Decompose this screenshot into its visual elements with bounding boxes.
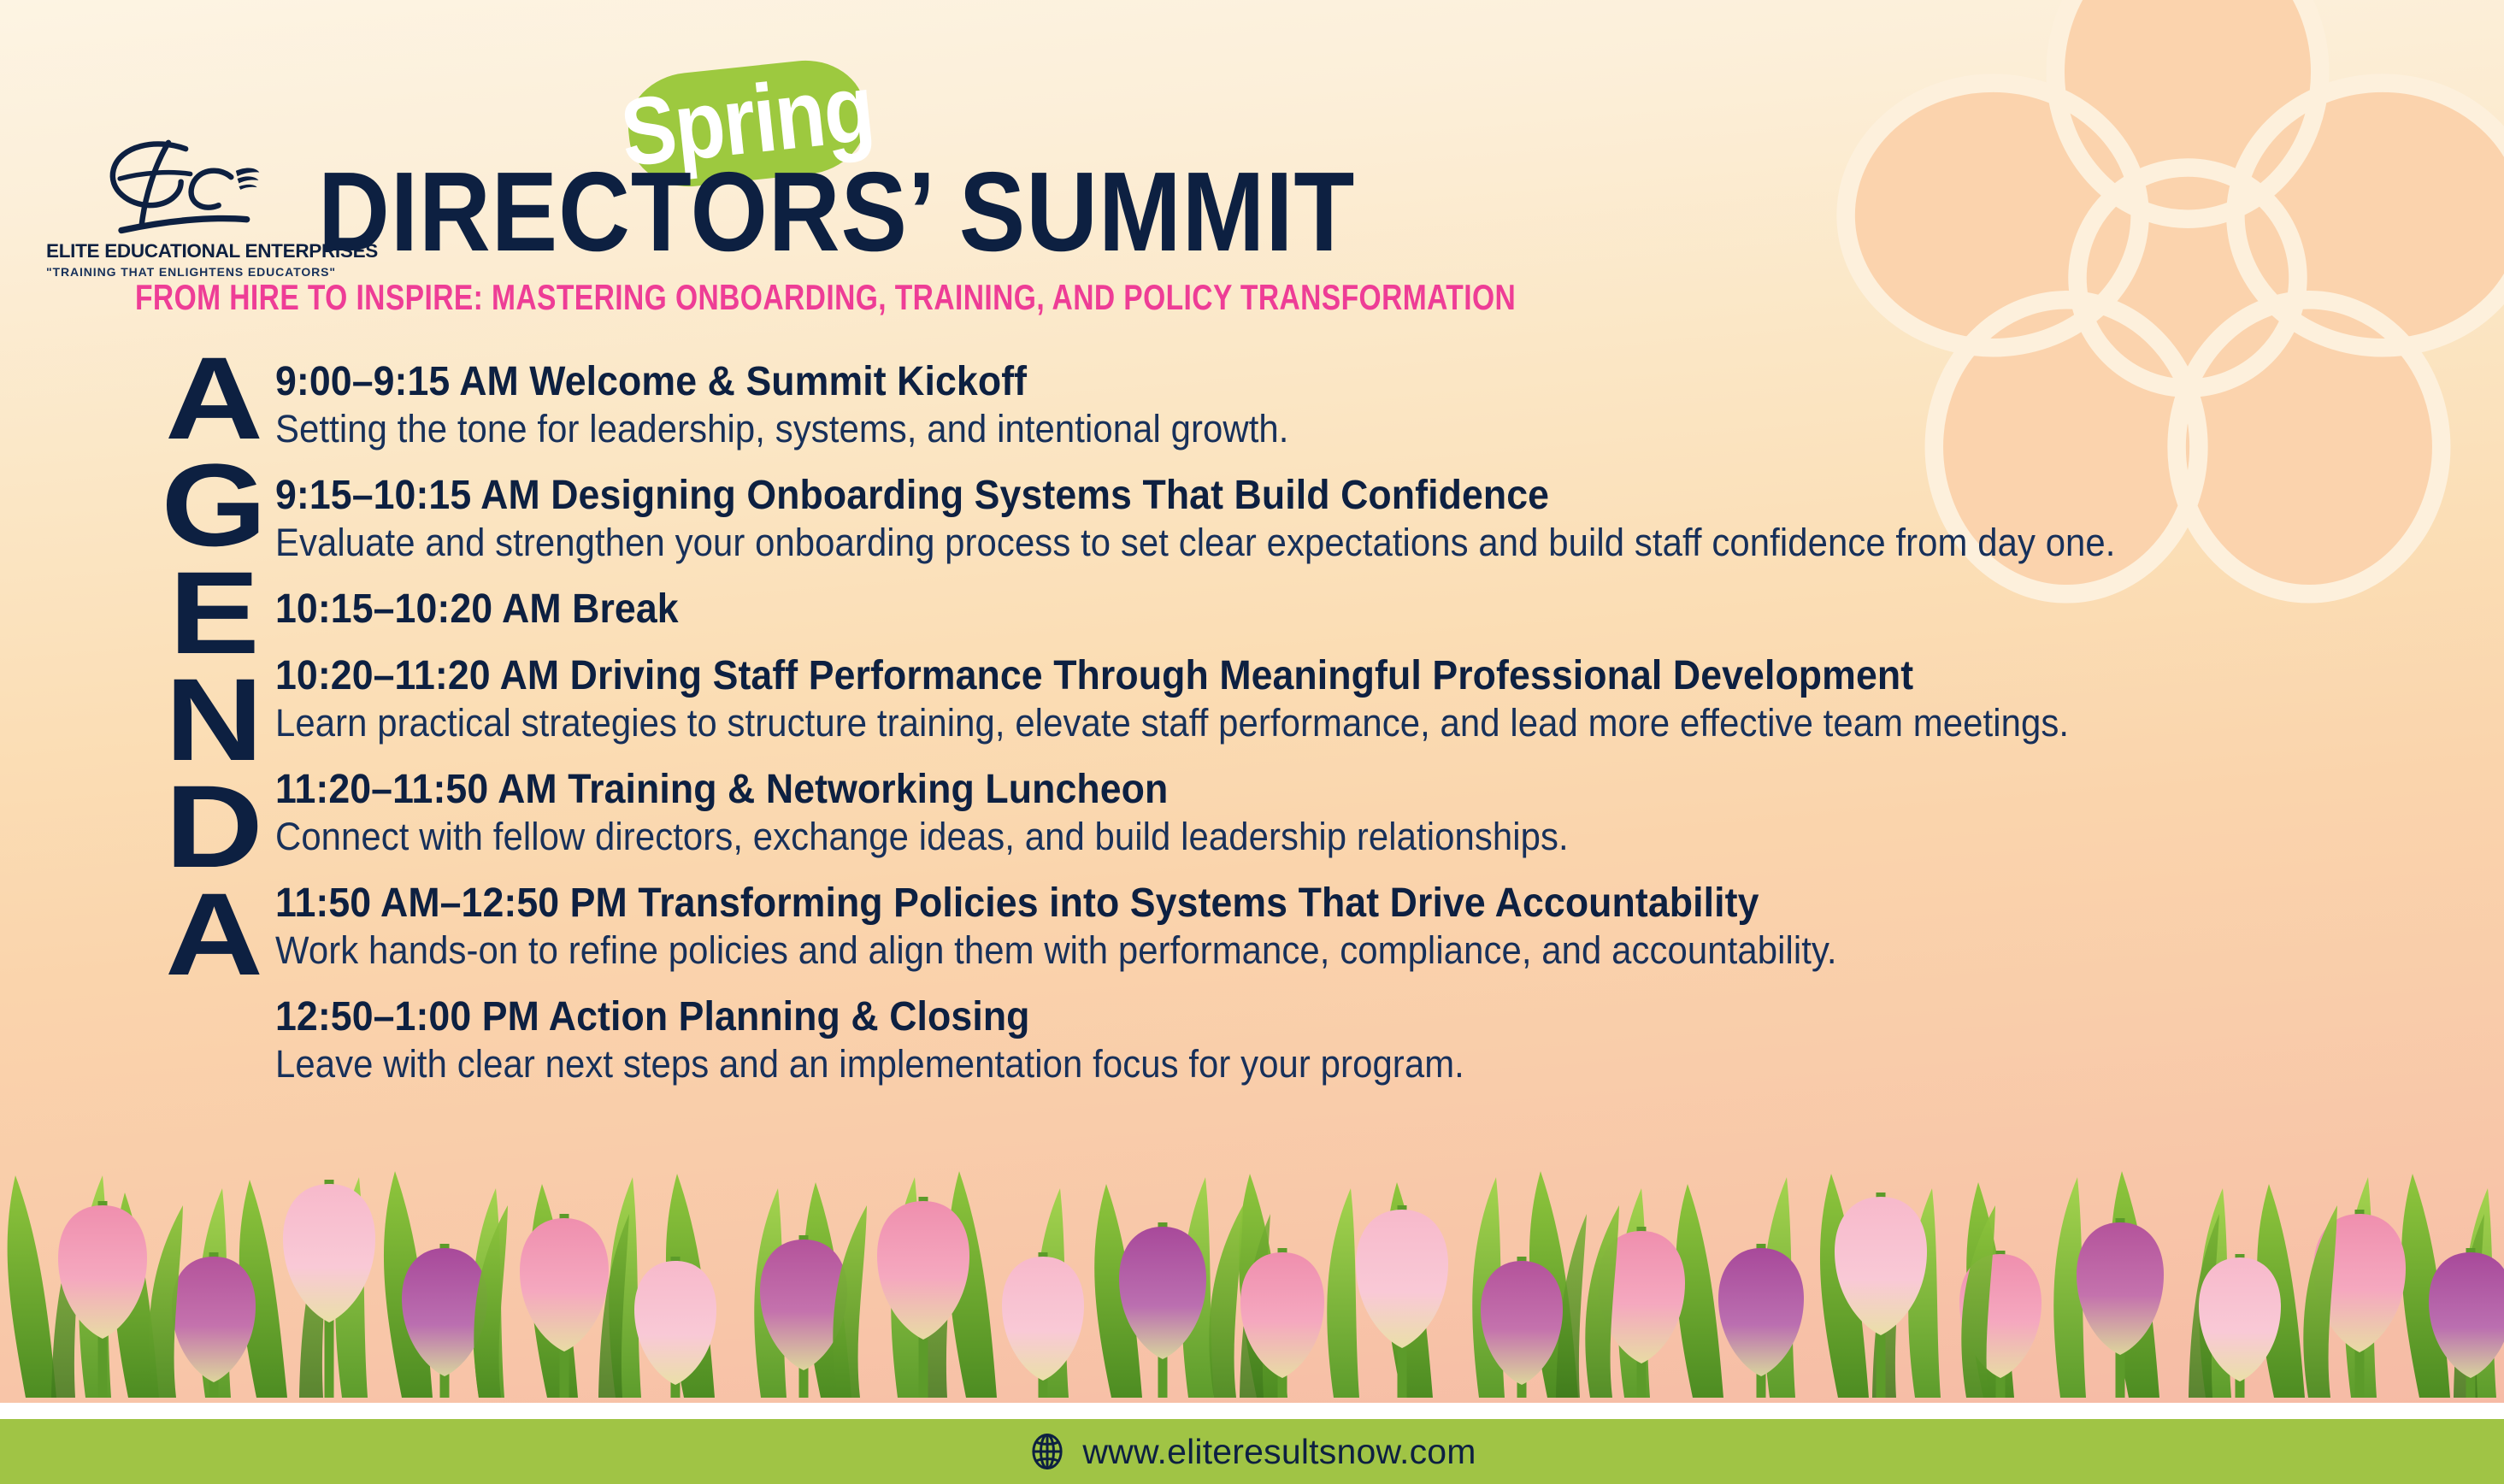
agenda-letter: N: [165, 667, 263, 774]
agenda-item-description: Evaluate and strengthen your onboarding …: [275, 520, 2311, 565]
agenda-letter: E: [168, 560, 259, 667]
tulip-field-image: [0, 1030, 2504, 1398]
brand-logo: ELITE EDUCATIONAL ENTERPRISES "TRAINING …: [46, 132, 328, 279]
agenda-item: 10:15–10:20 AM Break: [275, 586, 2464, 633]
agenda-letter: G: [162, 452, 268, 559]
agenda-item: 9:15–10:15 AM Designing Onboarding Syste…: [275, 473, 2464, 565]
agenda-item: 10:20–11:20 AM Driving Staff Performance…: [275, 653, 2464, 745]
agenda-item-title: 11:20–11:50 AM Training & Networking Lun…: [275, 767, 2311, 813]
footer-bar: www.eliteresultsnow.com: [0, 1419, 2504, 1484]
agenda-item: 9:00–9:15 AM Welcome & Summit Kickoff Se…: [275, 359, 2464, 451]
agenda-item-description: Connect with fellow directors, exchange …: [275, 814, 2311, 859]
agenda-item-description: Setting the tone for leadership, systems…: [275, 406, 2311, 451]
ec-monogram-icon: [93, 132, 281, 244]
agenda-item-title: 9:15–10:15 AM Designing Onboarding Syste…: [275, 473, 2311, 519]
agenda-item-title: 10:20–11:20 AM Driving Staff Performance…: [275, 653, 2311, 699]
brand-company-name: ELITE EDUCATIONAL ENTERPRISES: [46, 240, 328, 262]
footer-divider: [0, 1403, 2504, 1419]
footer-website-url[interactable]: www.eliteresultsnow.com: [1082, 1432, 1476, 1472]
agenda-vertical-word: A G E N D A: [152, 345, 276, 988]
agenda-item-title: 10:15–10:20 AM Break: [275, 586, 2311, 633]
agenda-item-description: Learn practical strategies to structure …: [275, 700, 2311, 745]
agenda-item-title: 11:50 AM–12:50 PM Transforming Policies …: [275, 880, 2311, 927]
agenda-item: 11:20–11:50 AM Training & Networking Lun…: [275, 767, 2464, 859]
page-title: DIRECTORS’ SUMMIT: [318, 156, 1355, 268]
page-subtitle: FROM HIRE TO INSPIRE: MASTERING ONBOARDI…: [135, 280, 1516, 315]
agenda-item: 11:50 AM–12:50 PM Transforming Policies …: [275, 880, 2464, 973]
agenda-letter: D: [165, 774, 263, 880]
poster-canvas: ELITE EDUCATIONAL ENTERPRISES "TRAINING …: [0, 0, 2504, 1484]
agenda-list: 9:00–9:15 AM Welcome & Summit Kickoff Se…: [275, 359, 2464, 1108]
agenda-letter: A: [165, 881, 263, 988]
agenda-letter: A: [165, 345, 263, 452]
agenda-item-title: 9:00–9:15 AM Welcome & Summit Kickoff: [275, 359, 2311, 405]
globe-icon: [1028, 1432, 1067, 1471]
agenda-item-description: Work hands-on to refine policies and ali…: [275, 927, 2311, 973]
